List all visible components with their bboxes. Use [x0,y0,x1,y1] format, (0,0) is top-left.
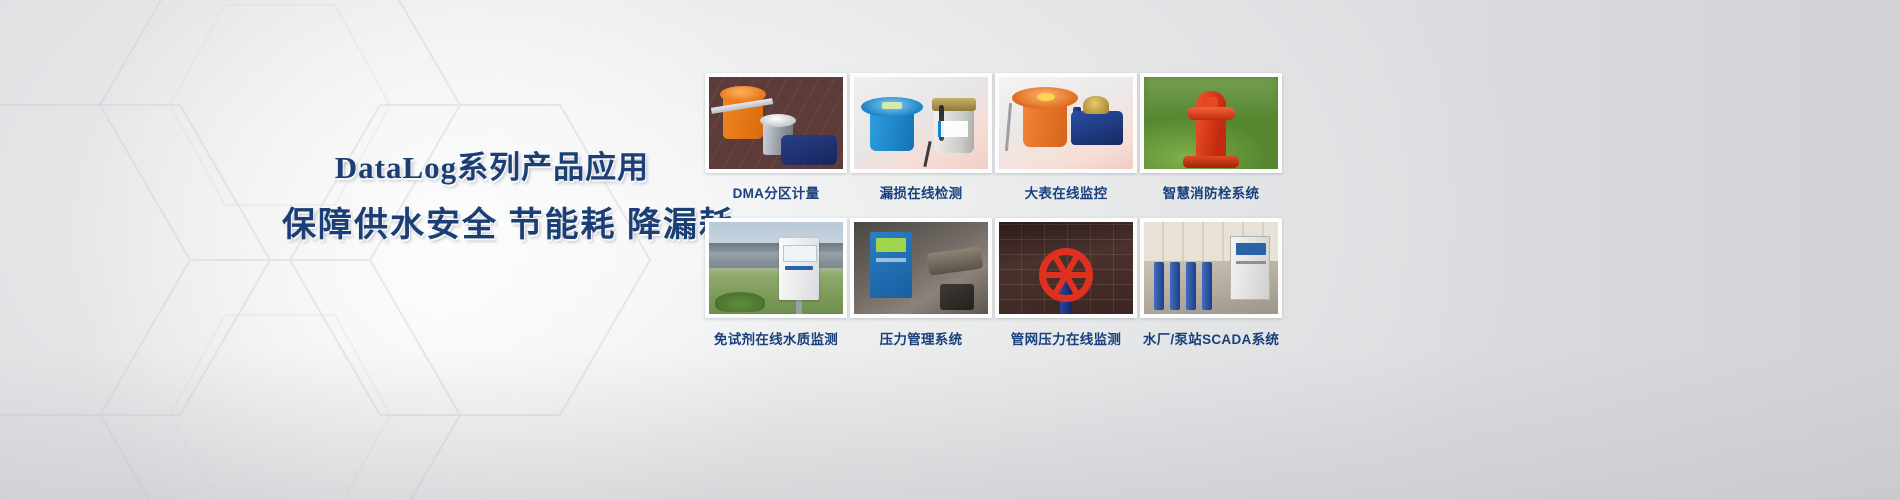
gallery-caption: 免试剂在线水质监测 [705,328,847,348]
dma-metering-photo [709,77,843,169]
gallery-caption: 管网压力在线监测 [995,328,1137,348]
leak-detection-photo [854,77,988,169]
smart-hydrant-thumbnail[interactable] [1140,73,1282,173]
headline-line-2: 保障供水安全 节能耗 降漏耗 [282,204,702,248]
gallery-item-water-quality[interactable]: 免试剂在线水质监测 [705,218,847,363]
gallery-caption: DMA分区计量 [705,182,847,202]
large-meter-monitoring-photo [999,77,1133,169]
smart-hydrant-photo [1144,77,1278,169]
product-gallery: DMA分区计量 漏损在线检测 [705,73,1282,363]
headline-line-1: DataLog系列产品应用 [282,148,702,188]
right-vignette [1380,0,1900,500]
dma-metering-thumbnail[interactable] [705,73,847,173]
gallery-item-smart-hydrant[interactable]: 智慧消防栓系统 [1140,73,1282,218]
gallery-item-leak-detection[interactable]: 漏损在线检测 [850,73,992,218]
pressure-management-thumbnail[interactable] [850,218,992,318]
gallery-item-dma-metering[interactable]: DMA分区计量 [705,73,847,218]
hexagon-watermark-icon [0,0,760,500]
gallery-caption: 压力管理系统 [850,328,992,348]
bottom-vignette [0,350,1900,500]
scada-thumbnail[interactable] [1140,218,1282,318]
waterworks-scada-photo [1144,222,1278,314]
gallery-caption: 智慧消防栓系统 [1140,182,1282,202]
large-meter-thumbnail[interactable] [995,73,1137,173]
pressure-management-photo [854,222,988,314]
gallery-item-scada[interactable]: 水厂/泵站SCADA系统 [1140,218,1282,363]
pipeline-pressure-thumbnail[interactable] [995,218,1137,318]
promo-banner: DataLog系列产品应用 保障供水安全 节能耗 降漏耗 DMA分区计量 [0,0,1900,500]
gallery-caption: 漏损在线检测 [850,182,992,202]
gallery-item-pressure-management[interactable]: 压力管理系统 [850,218,992,363]
leak-detection-thumbnail[interactable] [850,73,992,173]
pipeline-pressure-monitoring-photo [999,222,1133,314]
gallery-item-pipeline-pressure[interactable]: 管网压力在线监测 [995,218,1137,363]
headline-block: DataLog系列产品应用 保障供水安全 节能耗 降漏耗 [282,148,702,248]
gallery-caption: 水厂/泵站SCADA系统 [1140,328,1282,348]
gallery-item-large-meter[interactable]: 大表在线监控 [995,73,1137,218]
water-quality-thumbnail[interactable] [705,218,847,318]
reagent-free-water-quality-photo [709,222,843,314]
gallery-caption: 大表在线监控 [995,182,1137,202]
